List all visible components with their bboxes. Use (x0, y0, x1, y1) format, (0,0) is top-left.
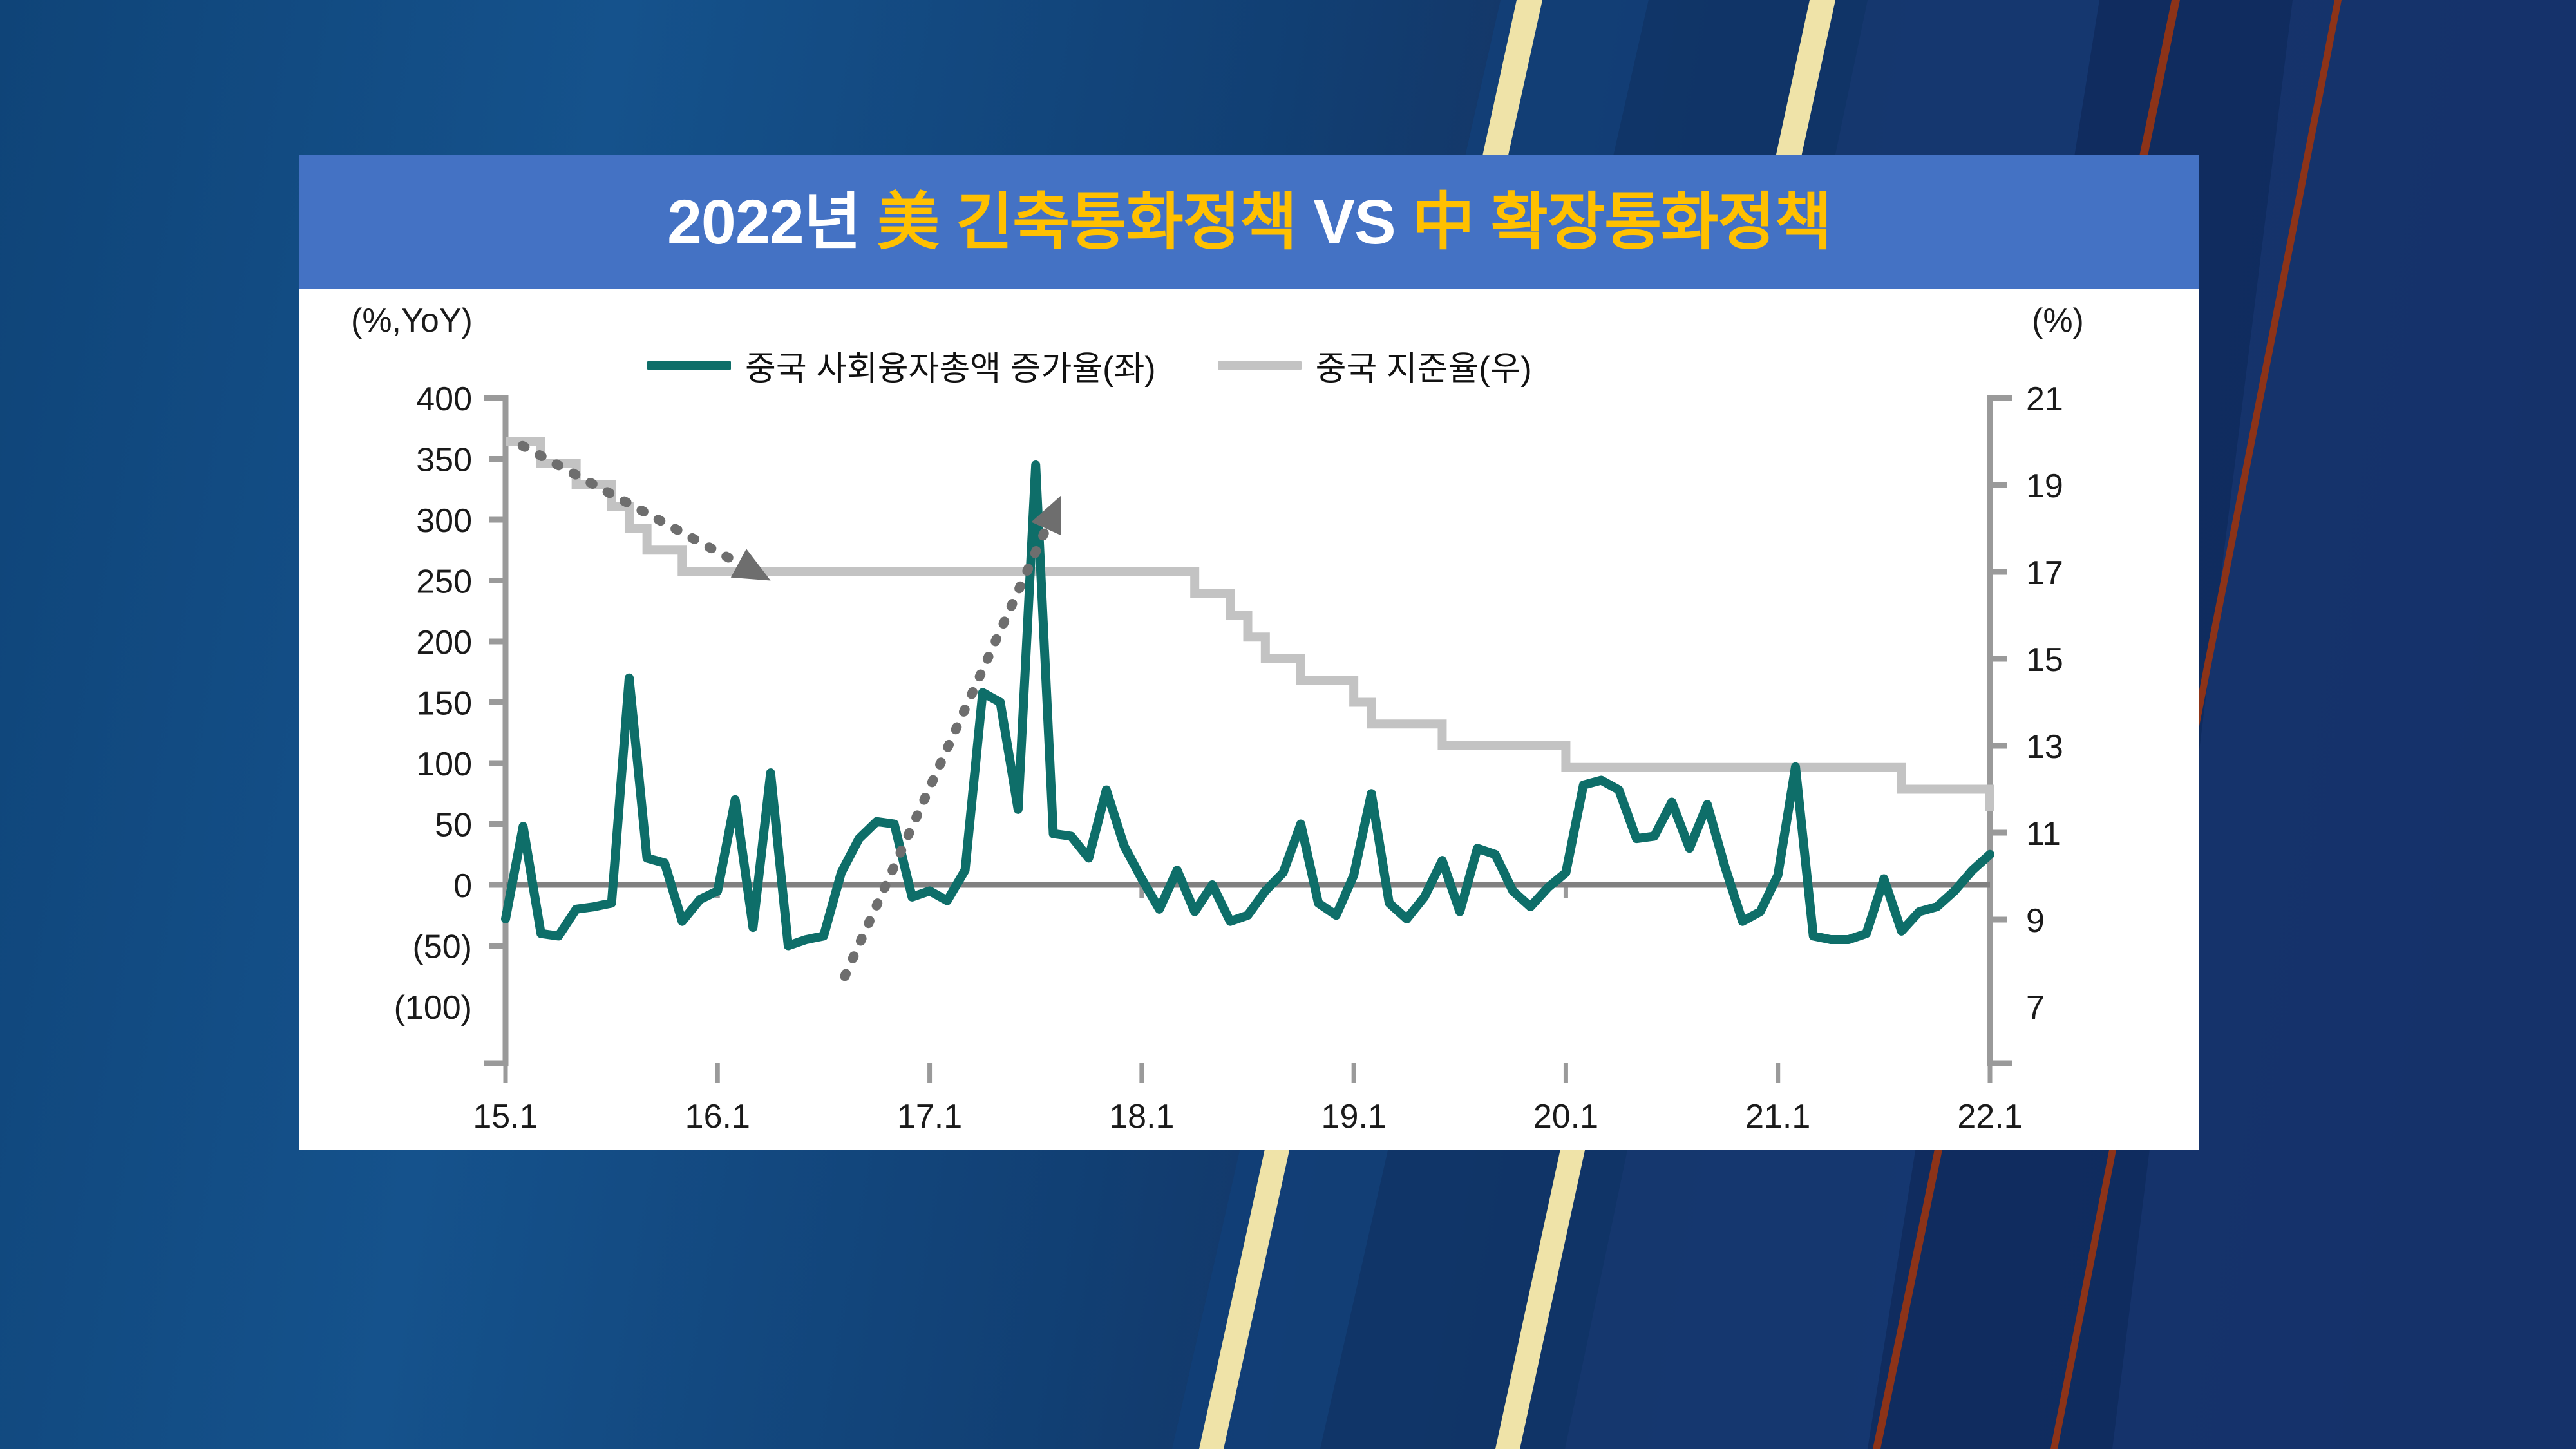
svg-text:250: 250 (416, 563, 472, 601)
svg-text:15.1: 15.1 (473, 1098, 538, 1135)
svg-text:19: 19 (2026, 468, 2063, 505)
svg-text:7: 7 (2026, 989, 2045, 1027)
axis-tick-labels: 400350300250200150100500(50)(100)2119171… (394, 381, 2063, 1135)
svg-text:16.1: 16.1 (685, 1098, 750, 1135)
plot-area: (%,YoY) (%) 중국 사회융자총액 증가율(좌) 중국 지준율(우) 4… (299, 289, 2199, 1150)
svg-text:13: 13 (2026, 728, 2063, 766)
svg-text:350: 350 (416, 442, 472, 479)
title-segment-cn: 中 확장통화정책 (1396, 187, 1832, 257)
svg-text:22.1: 22.1 (1957, 1098, 2022, 1135)
title-segment-year: 2022년 (667, 187, 860, 257)
svg-text:400: 400 (416, 381, 472, 418)
svg-text:21: 21 (2026, 381, 2063, 418)
svg-text:150: 150 (416, 685, 472, 723)
chart-axes (484, 398, 2012, 1083)
svg-text:100: 100 (416, 746, 472, 783)
page-title: 2022년 美 긴축통화정책 VS 中 확장통화정책 (667, 191, 1832, 253)
svg-text:0: 0 (453, 867, 472, 905)
title-bar: 2022년 美 긴축통화정책 VS 中 확장통화정책 (299, 155, 2199, 289)
svg-text:19.1: 19.1 (1321, 1098, 1387, 1135)
series-reserve-ratio (506, 442, 1990, 811)
svg-text:21.1: 21.1 (1745, 1098, 1810, 1135)
svg-text:9: 9 (2026, 902, 2045, 940)
svg-text:50: 50 (435, 807, 472, 844)
svg-text:(100): (100) (394, 989, 472, 1027)
svg-text:11: 11 (2026, 815, 2061, 853)
svg-text:300: 300 (416, 502, 472, 540)
svg-text:18.1: 18.1 (1109, 1098, 1174, 1135)
chart-card: 2022년 美 긴축통화정책 VS 中 확장통화정책 (%,YoY) (%) 중… (299, 155, 2199, 1150)
svg-text:200: 200 (416, 624, 472, 661)
series-social-financing (506, 465, 1990, 946)
chart-plot: 400350300250200150100500(50)(100)2119171… (299, 289, 2199, 1150)
svg-text:17: 17 (2026, 554, 2063, 592)
svg-text:17.1: 17.1 (897, 1098, 962, 1135)
svg-text:(50): (50) (413, 929, 472, 966)
title-segment-us: 美 긴축통화정책 (860, 187, 1313, 257)
title-segment-vs: VS (1313, 187, 1395, 257)
svg-text:20.1: 20.1 (1533, 1098, 1598, 1135)
svg-text:15: 15 (2026, 641, 2063, 679)
